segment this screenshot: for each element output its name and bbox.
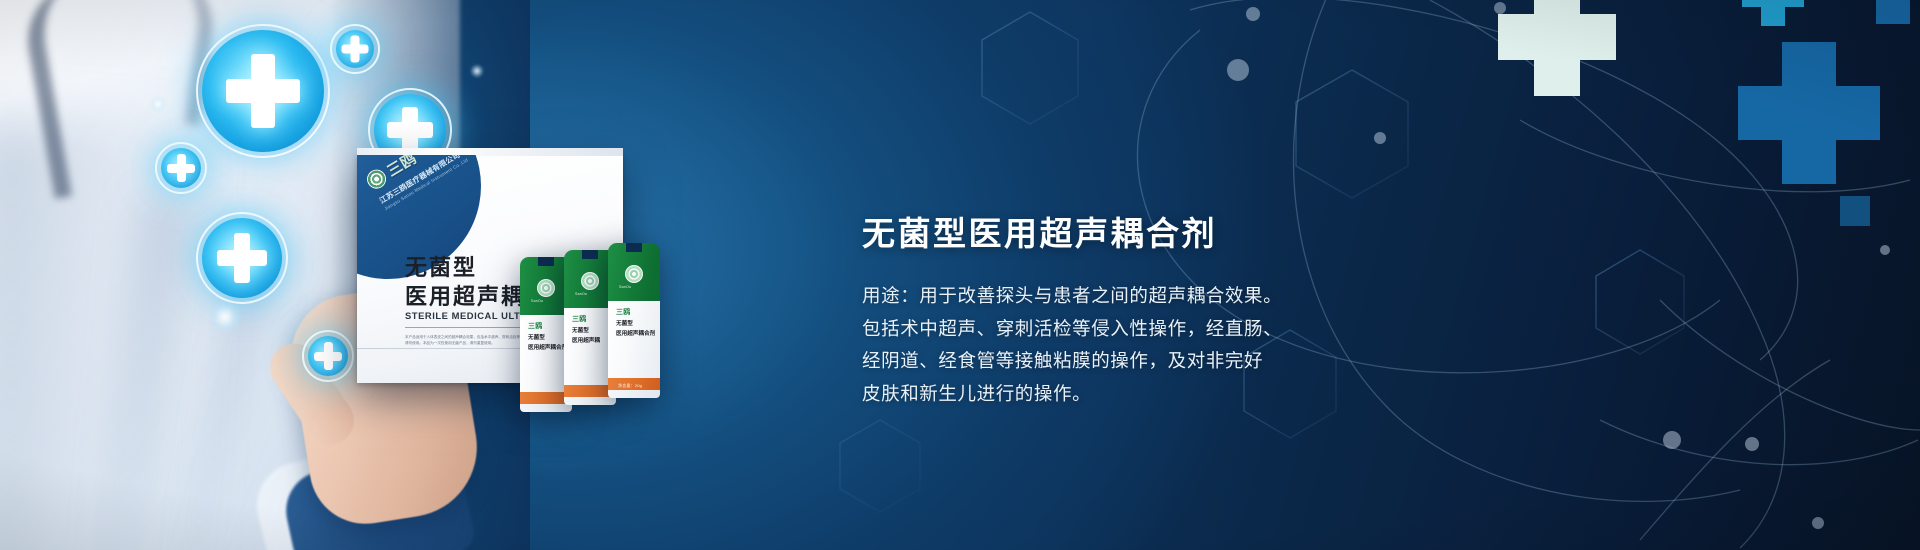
banner-copy: 无菌型医用超声耦合剂 用途：用于改善探头与患者之间的超声耦合效果。 包括术中超声…: [862, 214, 1482, 411]
spiral-logo-icon: [625, 265, 643, 283]
medical-cross-flat-icon: [1840, 196, 1870, 226]
medical-cross-glow-icon: [155, 142, 207, 194]
product-title-line1: 无菌型: [405, 250, 477, 282]
medical-cross-glow-icon: [330, 24, 380, 74]
sachet-weight: 净含量：20g: [618, 383, 642, 389]
sachet-brand: 三鸥: [528, 321, 542, 331]
medical-cross-glow-icon: [196, 24, 330, 158]
product-hero-banner: 三鸥 江苏三鸥医疗器械有限公司 Jiangsu Sanou Medical In…: [0, 0, 1920, 550]
sachet-line1: 无菌型: [572, 326, 589, 334]
sachet-brand: 三鸥: [616, 307, 630, 317]
sachet-line1: 无菌型: [616, 319, 633, 327]
sparkle: [470, 64, 484, 78]
sachet-line2: 医用超声耦合剂: [616, 329, 655, 337]
medical-cross-flat-icon: [1742, 0, 1804, 26]
description-line: 经阴道、经食管等接触粘膜的操作，及对非完好: [862, 345, 1482, 378]
sachet-line2: 医用超声耦: [572, 336, 600, 344]
sparkle: [150, 96, 166, 112]
sachet-swirl-caption: SanOu: [575, 292, 587, 296]
spiral-logo-icon: [581, 272, 599, 290]
medical-cross-flat-icon: [1738, 42, 1880, 184]
banner-description: 用途：用于改善探头与患者之间的超声耦合效果。 包括术中超声、穿刺活检等侵入性操作…: [862, 280, 1482, 412]
medical-cross-glow-icon: [196, 212, 288, 304]
description-line: 用途：用于改善探头与患者之间的超声耦合效果。: [862, 280, 1482, 313]
description-line: 包括术中超声、穿刺活检等侵入性操作，经直肠、: [862, 313, 1482, 346]
sparkle: [208, 300, 242, 334]
medical-cross-flat-icon: [1876, 0, 1910, 24]
sachet-line2: 医用超声耦合剂: [528, 343, 567, 351]
sachet-brand: 三鸥: [572, 314, 586, 324]
medical-cross-glow-icon: [302, 330, 354, 382]
sachet-swirl-caption: SanOu: [619, 285, 631, 289]
description-line: 皮肤和新生儿进行的操作。: [862, 378, 1482, 411]
medical-cross-flat-icon: [1498, 0, 1616, 96]
product-sachet: SanOu 三鸥 无菌型 医用超声耦合剂 净含量：20g: [608, 243, 660, 398]
page-title: 无菌型医用超声耦合剂: [862, 214, 1482, 254]
sachet-swirl-caption: SanOu: [531, 299, 543, 303]
sachet-line1: 无菌型: [528, 333, 545, 341]
product-sachets: SanOu 三鸥 无菌型 医用超声耦合剂 SanOu 三鸥 无菌型 医用超声耦 …: [520, 243, 700, 403]
spiral-logo-icon: [537, 279, 555, 297]
